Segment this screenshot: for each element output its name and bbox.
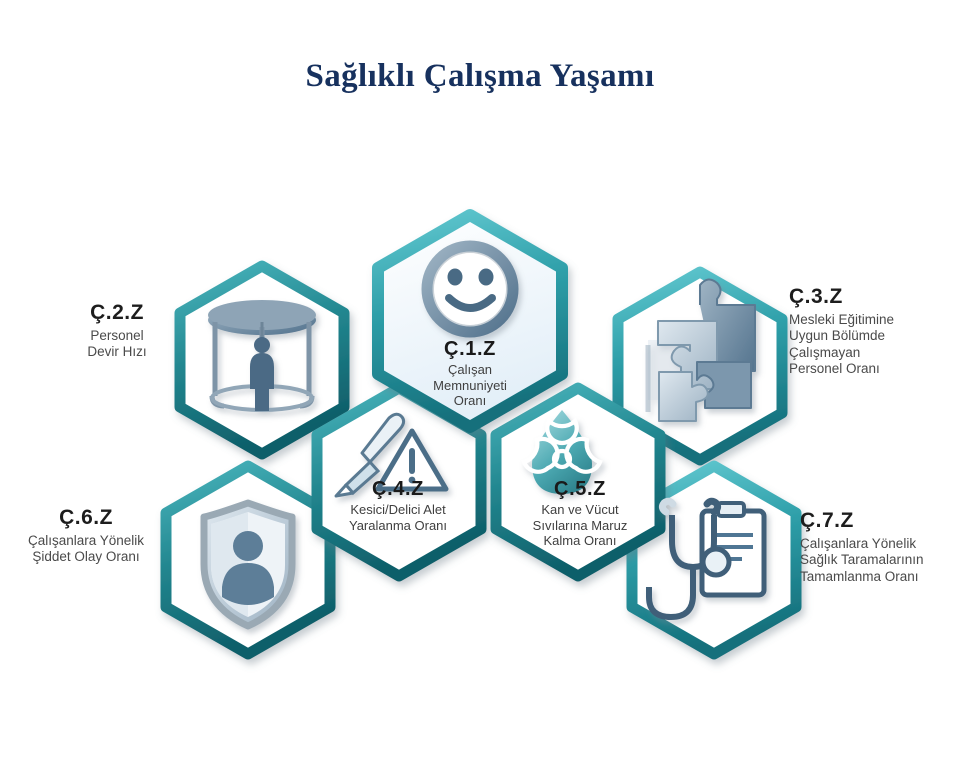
infographic-canvas: Sağlıklı Çalışma Yaşamı: [0, 0, 960, 767]
side-caption-c2: Ç.2.Z Personel Devir Hızı: [42, 300, 192, 361]
indicator-desc-c6: Çalışanlara Yönelik Şiddet Olay Oranı: [2, 533, 170, 566]
indicator-desc-c2: Personel Devir Hızı: [42, 328, 192, 361]
indicator-code-c7: Ç.7.Z: [800, 508, 958, 534]
side-caption-c7: Ç.7.Z Çalışanlara Yönelik Sağlık Taramal…: [800, 508, 958, 585]
indicator-desc-c7: Çalışanlara Yönelik Sağlık Taramalarının…: [800, 536, 958, 585]
side-caption-c6: Ç.6.Z Çalışanlara Yönelik Şiddet Olay Or…: [2, 505, 170, 566]
shield-person-icon: [204, 503, 292, 626]
side-caption-c3: Ç.3.Z Mesleki Eğitimine Uygun Bölümde Ça…: [789, 284, 957, 377]
indicator-code-c3: Ç.3.Z: [789, 284, 957, 310]
smiley-face-icon: [427, 246, 513, 332]
indicator-desc-c3: Mesleki Eğitimine Uygun Bölümde Çalışmay…: [789, 312, 957, 378]
indicator-code-c2: Ç.2.Z: [42, 300, 192, 326]
honeycomb-diagram: [0, 0, 960, 767]
indicator-code-c6: Ç.6.Z: [2, 505, 170, 531]
